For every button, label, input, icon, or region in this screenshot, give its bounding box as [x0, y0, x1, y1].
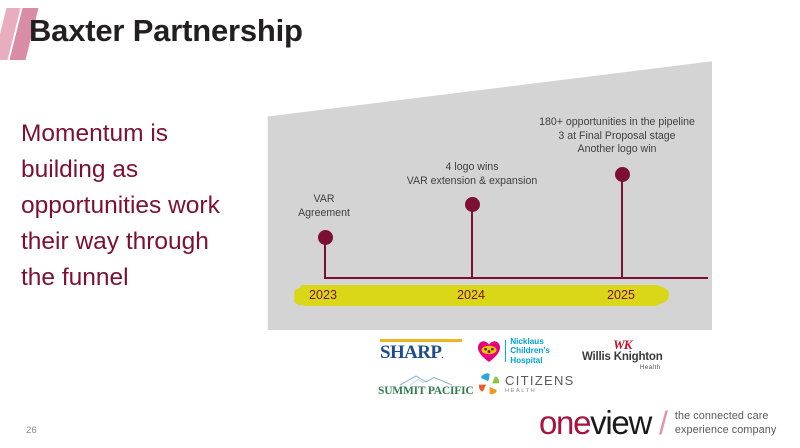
logo-sharp: SHARP. [380, 339, 462, 366]
brand-wordmark: oneview [539, 406, 651, 439]
brand-tagline: the connected care experience company [675, 408, 776, 437]
timeline-marker-2025 [615, 167, 630, 182]
timeline-marker-2023 [318, 230, 333, 245]
timeline-label-2024: 4 logo wins VAR extension & expansion [362, 161, 582, 188]
timeline-label-2023: VAR Agreement [259, 193, 389, 220]
sharp-wordmark-text: SHARP [380, 342, 441, 363]
citizens-subtitle: HEALTH [505, 388, 575, 395]
wk-subtitle: Health [640, 364, 661, 372]
nicklaus-line1: Nicklaus [510, 337, 550, 346]
citizens-wordmark: CITIZENS HEALTH [505, 374, 575, 395]
axis-tick-2024: 2024 [446, 288, 496, 302]
page-number: 26 [26, 425, 37, 436]
wk-monogram: WK [613, 338, 631, 351]
timeline-marker-2024 [465, 197, 480, 212]
timeline-label-2025-line2: 3 at Final Proposal stage [502, 130, 732, 144]
brand-one: one [539, 404, 590, 441]
brand-slash: / [659, 407, 668, 439]
citizens-word: CITIZENS [505, 374, 575, 388]
brand-view: view [590, 404, 651, 441]
timeline-label-2025-line3: Another logo win [502, 143, 732, 157]
timeline-label-2024-line2: VAR extension & expansion [362, 175, 582, 189]
logo-willis-knighton: WK Willis Knighton Health [582, 338, 663, 372]
left-callout-text: Momentum is building as opportunities wo… [21, 116, 226, 296]
sharp-wordmark: SHARP. [380, 343, 462, 366]
axis-tick-2025: 2025 [596, 288, 646, 302]
timeline-label-2024-line1: 4 logo wins [362, 161, 582, 175]
customer-logo-strip: SHARP. Nicklaus Children's Hospital [372, 337, 692, 401]
slide-canvas: Baxter Partnership Momentum is building … [0, 0, 800, 448]
nicklaus-line3: Hospital [510, 356, 550, 365]
nicklaus-divider [505, 340, 506, 362]
timeline-axis [324, 277, 708, 279]
page-title: Baxter Partnership [29, 8, 303, 54]
summit-wordmark: SUMMIT PACIFIC [378, 385, 473, 398]
logo-nicklaus-childrens-hospital: Nicklaus Children's Hospital [476, 337, 550, 365]
brand-tagline-line2: experience company [675, 424, 776, 437]
mountain-icon [396, 373, 456, 385]
pinwheel-icon [478, 373, 500, 395]
timeline-label-2023-line2: Agreement [259, 207, 389, 221]
timeline-chart: 180+ opportunities in the pipeline 3 at … [266, 58, 712, 330]
nicklaus-wordmark: Nicklaus Children's Hospital [510, 337, 550, 365]
logo-citizens-health: CITIZENS HEALTH [478, 373, 575, 395]
logo-summit-pacific: SUMMIT PACIFIC [378, 373, 473, 398]
wk-wordmark: Willis Knighton [582, 351, 663, 364]
brand-tagline-line1: the connected care [675, 410, 776, 423]
sharp-trailing-dot: . [441, 351, 442, 360]
timeline-stem-2025 [621, 176, 623, 278]
oneview-brand-logo: oneview / the connected care experience … [539, 406, 776, 439]
heart-icon [476, 339, 502, 363]
timeline-label-2023-line1: VAR [259, 193, 389, 207]
timeline-label-2025-line1: 180+ opportunities in the pipeline [502, 116, 732, 130]
axis-tick-2023: 2023 [298, 288, 348, 302]
timeline-stem-2024 [471, 206, 473, 278]
nicklaus-line2: Children's [510, 346, 550, 355]
timeline-label-2025: 180+ opportunities in the pipeline 3 at … [502, 116, 732, 157]
